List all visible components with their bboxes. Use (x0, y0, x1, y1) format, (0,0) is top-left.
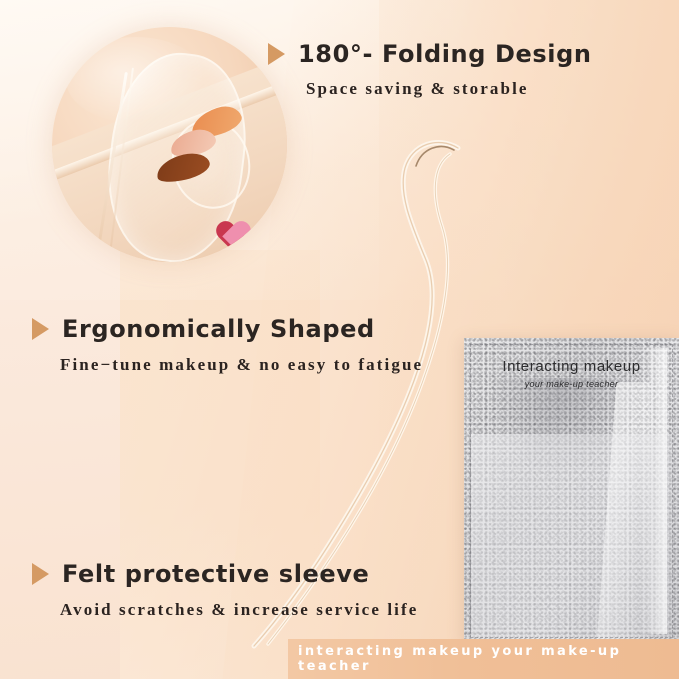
banner-tagline: interacting makeup your make-up teacher (288, 644, 679, 674)
triangle-right-icon (268, 43, 285, 65)
feature-block-felt-sleeve: Felt protective sleeve Avoid scratches &… (32, 560, 418, 620)
heart-icon (216, 217, 250, 247)
feature-heading: Ergonomically Shaped (32, 315, 423, 343)
feature-subtitle: Space saving & storable (306, 79, 592, 99)
pouch-brand-title: Interacting makeup (464, 358, 679, 375)
feature-block-ergonomically-shaped: Ergonomically Shaped Fine−tune makeup & … (32, 315, 423, 375)
pouch-label: Interacting makeup your make-up teacher (464, 358, 679, 389)
feature-title: Felt protective sleeve (62, 560, 369, 588)
feature-heading: 180°- Folding Design (268, 40, 592, 68)
bottom-banner: interacting makeup your make-up teacher (288, 639, 679, 679)
photo-gloss (66, 37, 206, 123)
feature-block-folding-design: 180°- Folding Design Space saving & stor… (268, 40, 592, 99)
feature-subtitle: Avoid scratches & increase service life (60, 600, 418, 620)
feature-heading: Felt protective sleeve (32, 560, 418, 588)
triangle-right-icon (32, 563, 49, 585)
feature-subtitle: Fine−tune makeup & no easy to fatigue (60, 355, 423, 375)
triangle-right-icon (32, 318, 49, 340)
pouch-tagline: your make-up teacher (464, 379, 679, 389)
feature-title: 180°- Folding Design (298, 40, 592, 68)
circular-product-photo (52, 27, 287, 262)
felt-pouch: Interacting makeup your make-up teacher (464, 338, 679, 644)
product-infographic: Interacting makeup your make-up teacher … (0, 0, 679, 679)
feature-title: Ergonomically Shaped (62, 315, 375, 343)
